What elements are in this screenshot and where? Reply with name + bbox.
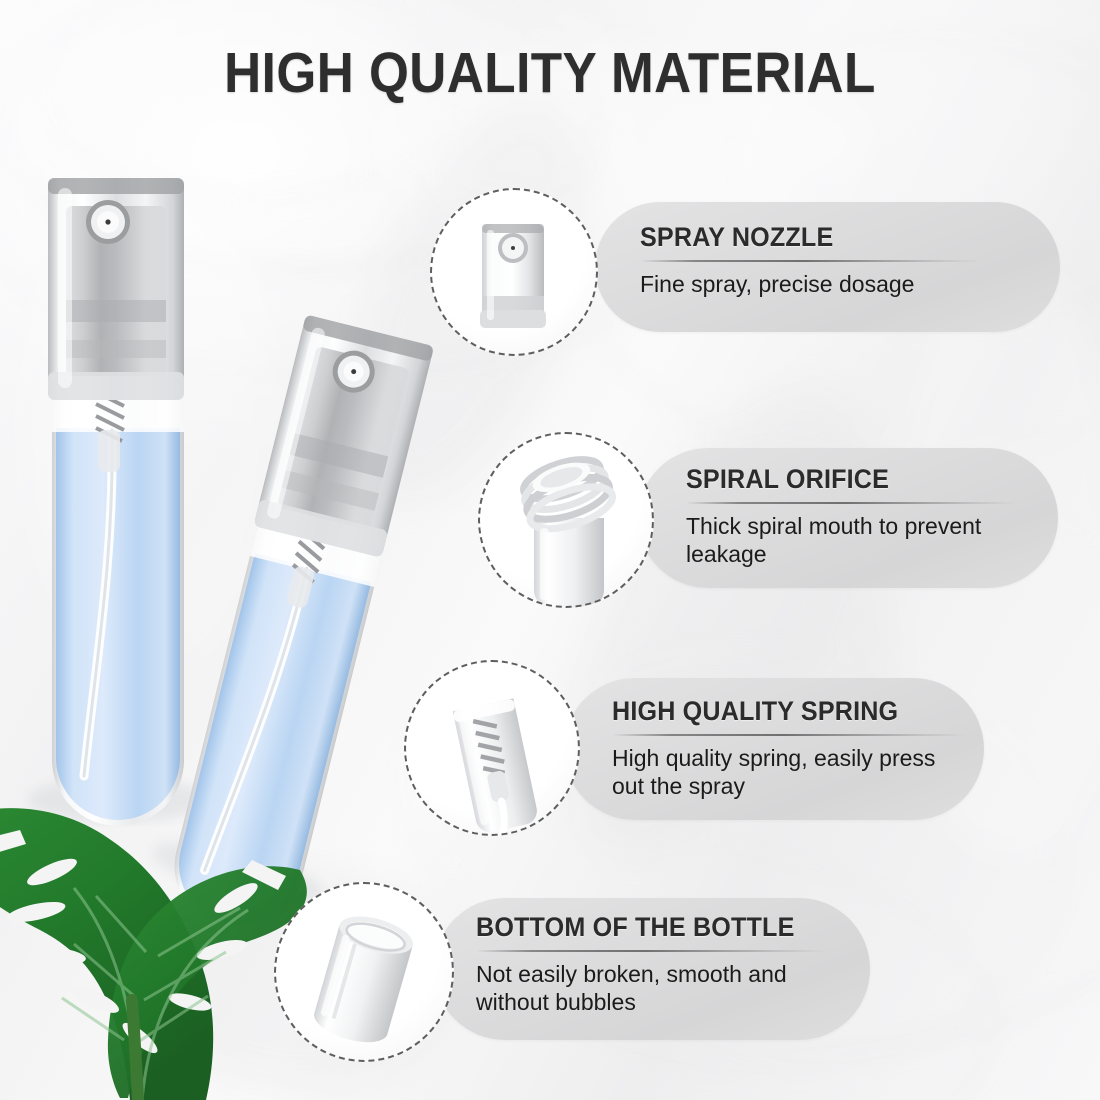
bubble-dashed-ring xyxy=(404,660,580,836)
feature-body-spiral-orifice: Thick spiral mouth to prevent leakage xyxy=(686,512,1016,568)
bubble-dashed-ring xyxy=(274,882,454,1062)
feature-divider xyxy=(476,950,826,952)
feature-body-bottom-of-the-bottle: Not easily broken, smooth and without bu… xyxy=(476,960,856,1016)
feature-heading-high-quality-spring: HIGH QUALITY SPRING xyxy=(612,696,984,727)
nozzle-hole xyxy=(105,219,110,224)
feature-row-bottom-of-the-bottle: BOTTOM OF THE BOTTLE Not easily broken, … xyxy=(274,882,894,1072)
feature-divider xyxy=(640,260,980,262)
feature-heading-spray-nozzle: SPRAY NOZZLE xyxy=(640,222,1012,253)
feature-bubble-high-quality-spring[interactable] xyxy=(404,660,580,836)
feature-divider xyxy=(686,502,1016,504)
feature-body-high-quality-spring: High quality spring, easily press out th… xyxy=(612,744,972,800)
feature-divider xyxy=(612,734,967,736)
feature-heading-spiral-orifice: SPIRAL ORIFICE xyxy=(686,464,1039,495)
bubble-dashed-ring xyxy=(478,432,654,608)
feature-heading-bottom-of-the-bottle: BOTTOM OF THE BOTTLE xyxy=(476,912,867,943)
bottle-upright xyxy=(28,178,208,826)
feature-row-high-quality-spring: HIGH QUALITY SPRING High quality spring,… xyxy=(404,660,1024,845)
bubble-dashed-ring xyxy=(430,188,598,356)
bottle-tilted xyxy=(138,310,458,950)
feature-bubble-bottom-of-the-bottle[interactable] xyxy=(274,882,454,1062)
feature-row-spiral-orifice: SPIRAL ORIFICE Thick spiral mouth to pre… xyxy=(478,432,1058,612)
feature-bubble-spiral-orifice[interactable] xyxy=(478,432,654,608)
page-title: HIGH QUALITY MATERIAL xyxy=(55,44,1045,102)
feature-bubble-spray-nozzle[interactable] xyxy=(430,188,598,356)
feature-row-spray-nozzle: SPRAY NOZZLE Fine spray, precise dosage xyxy=(430,188,1050,348)
feature-body-spray-nozzle: Fine spray, precise dosage xyxy=(640,270,1000,298)
